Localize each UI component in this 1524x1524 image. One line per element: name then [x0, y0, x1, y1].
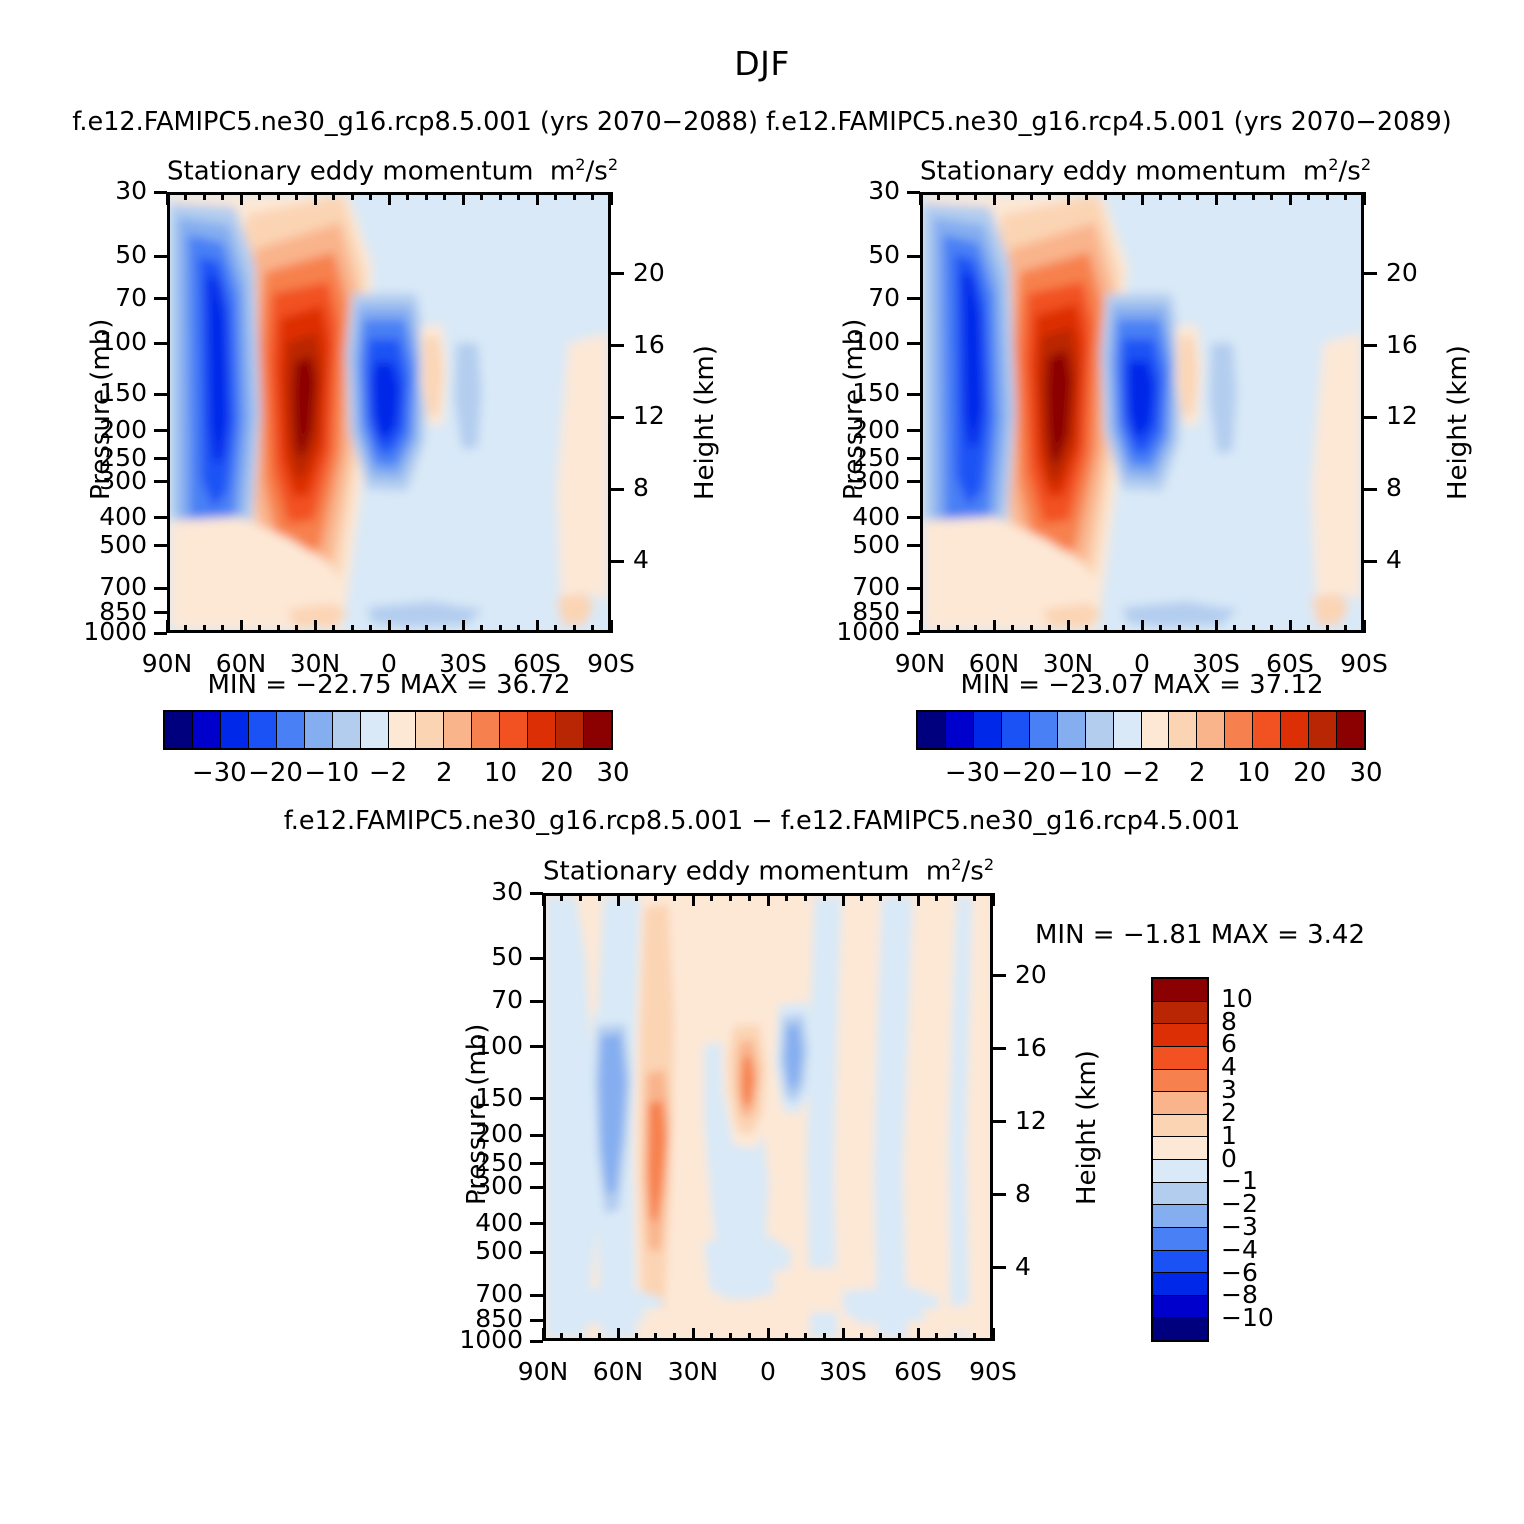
x-minor-tick-rcp45	[1344, 192, 1347, 200]
y-tick-rcp45	[907, 544, 920, 547]
colorbar-cell-rcp45	[974, 712, 1002, 748]
x-tick-rcp85	[536, 192, 539, 205]
x-tick-rcp85	[462, 192, 465, 205]
y-tick-rcp85	[154, 297, 167, 300]
x-tick-rcp85	[388, 192, 391, 205]
x-tick-difference	[842, 893, 845, 906]
y2-tick-label-difference: 16	[1015, 1033, 1047, 1062]
x-minor-tick-rcp45	[1344, 625, 1347, 633]
contour-field-rcp85	[170, 195, 608, 630]
x-minor-tick-difference	[579, 893, 582, 901]
colorbar-label-difference: −10	[1221, 1303, 1274, 1332]
figure-main-title: DJF	[0, 44, 1524, 83]
y-tick-rcp85	[154, 342, 167, 345]
x-tick-difference	[692, 1328, 695, 1341]
x-tick-difference	[767, 1328, 770, 1341]
x-minor-tick-difference	[598, 893, 601, 901]
minmax-rcp85: MIN = −22.75 MAX = 36.72	[167, 670, 611, 700]
y-tick-label-rcp45: 50	[785, 240, 900, 269]
contour-field-difference	[546, 896, 990, 1338]
colorbar-cell-rcp45	[1169, 712, 1197, 748]
x-tick-rcp85	[166, 192, 169, 205]
y-tick-rcp45	[907, 297, 920, 300]
colorbar-cell-difference	[1153, 1092, 1207, 1115]
y2-tick-label-rcp85: 8	[633, 473, 649, 502]
colorbar-cell-difference	[1153, 1070, 1207, 1093]
y2-tick-rcp45	[1364, 344, 1377, 347]
colorbar-label-rcp45: 30	[1311, 758, 1421, 788]
colorbar-cell-difference	[1153, 1137, 1207, 1160]
x-minor-tick-difference	[635, 1333, 638, 1341]
x-minor-tick-difference	[673, 1333, 676, 1341]
y-tick-rcp85	[154, 587, 167, 590]
y-tick-rcp45	[907, 429, 920, 432]
y-tick-label-rcp45: 1000	[785, 617, 900, 646]
colorbar-cell-rcp45	[1225, 712, 1253, 748]
y-axis-label-difference: Pressure (mb)	[462, 1024, 492, 1205]
x-minor-tick-rcp85	[332, 192, 335, 200]
x-minor-tick-rcp85	[406, 192, 409, 200]
panel-title-rcp85: Stationary eddy momentum m2/s2	[167, 155, 611, 187]
y-tick-difference	[530, 1045, 543, 1048]
x-minor-tick-difference	[748, 893, 751, 901]
y-tick-difference	[530, 1319, 543, 1322]
y-tick-difference	[530, 1186, 543, 1189]
x-tick-rcp85	[536, 620, 539, 633]
y-tick-label-rcp85: 30	[32, 176, 147, 205]
x-minor-tick-rcp85	[573, 192, 576, 200]
x-minor-tick-difference	[973, 1333, 976, 1341]
x-minor-tick-difference	[560, 1333, 563, 1341]
colorbar-cell-rcp85	[249, 712, 277, 748]
y2-tick-label-rcp85: 16	[633, 330, 665, 359]
x-tick-difference	[917, 893, 920, 906]
colorbar-cell-difference	[1153, 1228, 1207, 1251]
colorbar-cell-rcp45	[1058, 712, 1086, 748]
colorbar-cell-difference	[1153, 1318, 1207, 1340]
panel-title-text-rcp85: Stationary eddy momentum	[167, 157, 533, 187]
y-tick-label-rcp45: 500	[785, 530, 900, 559]
difference-case-line: f.e12.FAMIPC5.ne30_g16.rcp8.5.001 − f.e1…	[0, 806, 1524, 836]
y2-tick-rcp45	[1364, 272, 1377, 275]
colorbar-cell-rcp45	[1086, 712, 1114, 748]
y2-tick-rcp85	[611, 272, 624, 275]
x-tick-rcp45	[919, 192, 922, 205]
x-minor-tick-rcp45	[974, 192, 977, 200]
y-axis-label-rcp85: Pressure (mb)	[86, 319, 116, 500]
x-minor-tick-rcp85	[499, 625, 502, 633]
x-minor-tick-rcp45	[1196, 625, 1199, 633]
x-minor-tick-rcp85	[184, 625, 187, 633]
x-minor-tick-difference	[823, 1333, 826, 1341]
y2-tick-difference	[993, 1193, 1006, 1196]
colorbar-difference	[1151, 977, 1209, 1342]
colorbar-cell-difference	[1153, 1047, 1207, 1070]
x-tick-difference	[992, 893, 995, 906]
plot-frame-difference	[543, 893, 993, 1341]
x-tick-rcp45	[919, 620, 922, 633]
y2-axis-label-rcp85: Height (km)	[690, 345, 720, 500]
y-tick-label-difference: 1000	[408, 1325, 523, 1354]
plot-frame-rcp45	[920, 192, 1364, 633]
y2-tick-difference	[993, 1047, 1006, 1050]
colorbar-cell-difference	[1153, 1273, 1207, 1296]
x-minor-tick-difference	[935, 893, 938, 901]
x-tick-rcp45	[1067, 620, 1070, 633]
contour-field-rcp45	[923, 195, 1361, 630]
y-tick-rcp45	[907, 480, 920, 483]
y2-tick-label-difference: 4	[1015, 1252, 1031, 1281]
y-tick-rcp85	[154, 516, 167, 519]
x-minor-tick-rcp85	[258, 192, 261, 200]
y-tick-label-rcp45: 400	[785, 502, 900, 531]
y2-tick-rcp45	[1364, 416, 1377, 419]
y-tick-rcp85	[154, 255, 167, 258]
y2-tick-rcp45	[1364, 488, 1377, 491]
x-tick-difference	[842, 1328, 845, 1341]
panel-title-rcp45: Stationary eddy momentum m2/s2	[920, 155, 1364, 187]
colorbar-cell-rcp45	[1030, 712, 1058, 748]
x-tick-rcp85	[610, 192, 613, 205]
x-minor-tick-difference	[879, 893, 882, 901]
colorbar-cell-difference	[1153, 1251, 1207, 1274]
colorbar-cell-rcp45	[1002, 712, 1030, 748]
x-minor-tick-rcp85	[221, 192, 224, 200]
x-tick-rcp85	[610, 620, 613, 633]
x-minor-tick-rcp45	[1011, 625, 1014, 633]
y-tick-label-difference: 70	[408, 985, 523, 1014]
y2-tick-rcp85	[611, 488, 624, 491]
x-tick-difference	[542, 893, 545, 906]
y-tick-rcp45	[907, 611, 920, 614]
y2-tick-rcp85	[611, 344, 624, 347]
y-tick-rcp85	[154, 480, 167, 483]
colorbar-cell-rcp45	[1281, 712, 1309, 748]
x-minor-tick-difference	[823, 893, 826, 901]
x-minor-tick-rcp45	[1048, 625, 1051, 633]
y-tick-difference	[530, 1294, 543, 1297]
y2-tick-label-rcp45: 12	[1386, 401, 1418, 430]
x-minor-tick-difference	[860, 893, 863, 901]
x-minor-tick-rcp45	[937, 625, 940, 633]
x-minor-tick-difference	[729, 1333, 732, 1341]
x-minor-tick-rcp85	[554, 192, 557, 200]
colorbar-rcp45	[916, 710, 1366, 750]
x-minor-tick-difference	[710, 1333, 713, 1341]
x-minor-tick-difference	[710, 893, 713, 901]
y-tick-rcp85	[154, 457, 167, 460]
x-minor-tick-rcp45	[1159, 192, 1162, 200]
y-tick-rcp85	[154, 611, 167, 614]
plot-frame-rcp85	[167, 192, 611, 633]
x-minor-tick-rcp85	[221, 625, 224, 633]
y2-tick-rcp45	[1364, 560, 1377, 563]
x-minor-tick-rcp85	[591, 625, 594, 633]
x-minor-tick-rcp45	[1011, 192, 1014, 200]
x-minor-tick-difference	[785, 1333, 788, 1341]
x-minor-tick-difference	[560, 893, 563, 901]
x-tick-rcp85	[240, 192, 243, 205]
x-minor-tick-difference	[598, 1333, 601, 1341]
y2-tick-label-rcp85: 4	[633, 545, 649, 574]
colorbar-cell-rcp45	[1197, 712, 1225, 748]
x-minor-tick-difference	[748, 1333, 751, 1341]
y-tick-label-rcp85: 1000	[32, 617, 147, 646]
y-tick-rcp45	[907, 516, 920, 519]
y2-tick-difference	[993, 974, 1006, 977]
colorbar-label-rcp85: 30	[558, 758, 668, 788]
x-minor-tick-rcp85	[425, 192, 428, 200]
x-minor-tick-difference	[673, 893, 676, 901]
x-minor-tick-difference	[654, 893, 657, 901]
colorbar-cell-rcp45	[1114, 712, 1142, 748]
minmax-rcp45: MIN = −23.07 MAX = 37.12	[920, 670, 1364, 700]
x-tick-label-difference: 90S	[933, 1357, 1053, 1386]
colorbar-cell-rcp85	[305, 712, 333, 748]
x-minor-tick-rcp85	[351, 192, 354, 200]
colorbar-cell-rcp45	[918, 712, 946, 748]
x-tick-rcp85	[314, 192, 317, 205]
colorbar-cell-rcp45	[1142, 712, 1170, 748]
x-minor-tick-difference	[785, 893, 788, 901]
x-minor-tick-rcp45	[1270, 625, 1273, 633]
colorbar-cell-rcp85	[361, 712, 389, 748]
y-tick-rcp45	[907, 457, 920, 460]
x-minor-tick-difference	[898, 1333, 901, 1341]
y2-tick-label-rcp45: 8	[1386, 473, 1402, 502]
x-tick-rcp45	[1141, 620, 1144, 633]
x-tick-rcp45	[1289, 192, 1292, 205]
x-minor-tick-difference	[635, 893, 638, 901]
colorbar-cell-rcp85	[221, 712, 249, 748]
x-minor-tick-difference	[860, 1333, 863, 1341]
y2-tick-label-difference: 8	[1015, 1179, 1031, 1208]
colorbar-cell-difference	[1153, 1205, 1207, 1228]
colorbar-cell-rcp85	[500, 712, 528, 748]
x-minor-tick-difference	[898, 893, 901, 901]
x-minor-tick-difference	[729, 893, 732, 901]
x-minor-tick-difference	[954, 1333, 957, 1341]
figure-case-line: f.e12.FAMIPC5.ne30_g16.rcp8.5.001 (yrs 2…	[0, 107, 1524, 137]
x-minor-tick-difference	[579, 1333, 582, 1341]
x-minor-tick-difference	[954, 893, 957, 901]
x-minor-tick-rcp85	[591, 192, 594, 200]
colorbar-cell-rcp85	[528, 712, 556, 748]
x-tick-rcp45	[1289, 620, 1292, 633]
x-minor-tick-rcp85	[351, 625, 354, 633]
x-minor-tick-rcp45	[1326, 625, 1329, 633]
x-tick-rcp45	[1363, 620, 1366, 633]
x-minor-tick-rcp45	[1233, 625, 1236, 633]
colorbar-cell-rcp85	[584, 712, 611, 748]
x-minor-tick-rcp45	[1104, 192, 1107, 200]
x-tick-difference	[767, 893, 770, 906]
x-minor-tick-rcp45	[1307, 625, 1310, 633]
x-tick-difference	[992, 1328, 995, 1341]
x-minor-tick-difference	[804, 1333, 807, 1341]
y-tick-difference	[530, 1000, 543, 1003]
x-minor-tick-rcp85	[295, 625, 298, 633]
colorbar-cell-difference	[1153, 979, 1207, 1002]
x-minor-tick-rcp85	[369, 625, 372, 633]
x-minor-tick-rcp85	[277, 625, 280, 633]
colorbar-cell-rcp85	[193, 712, 221, 748]
y-tick-rcp45	[907, 255, 920, 258]
x-minor-tick-rcp45	[1122, 625, 1125, 633]
x-minor-tick-difference	[935, 1333, 938, 1341]
y-tick-difference	[530, 1222, 543, 1225]
y2-tick-rcp85	[611, 560, 624, 563]
y2-tick-label-rcp85: 20	[633, 258, 665, 287]
x-minor-tick-rcp45	[1085, 625, 1088, 633]
y-tick-label-rcp85: 500	[32, 530, 147, 559]
x-tick-rcp45	[1363, 192, 1366, 205]
y-tick-label-rcp85: 400	[32, 502, 147, 531]
y2-tick-label-rcp45: 20	[1386, 258, 1418, 287]
colorbar-cell-rcp85	[389, 712, 417, 748]
x-minor-tick-rcp45	[1178, 625, 1181, 633]
y2-tick-label-difference: 12	[1015, 1106, 1047, 1135]
x-minor-tick-rcp45	[956, 625, 959, 633]
y-tick-rcp85	[154, 429, 167, 432]
x-tick-rcp85	[314, 620, 317, 633]
x-minor-tick-rcp85	[443, 625, 446, 633]
colorbar-cell-rcp45	[1337, 712, 1364, 748]
x-minor-tick-rcp85	[443, 192, 446, 200]
x-tick-rcp45	[993, 620, 996, 633]
colorbar-cell-rcp45	[1253, 712, 1281, 748]
x-minor-tick-rcp85	[332, 625, 335, 633]
y2-tick-difference	[993, 1120, 1006, 1123]
x-minor-tick-rcp45	[1030, 192, 1033, 200]
y-tick-label-difference: 30	[408, 877, 523, 906]
x-tick-rcp85	[166, 620, 169, 633]
colorbar-cell-difference	[1153, 1296, 1207, 1319]
y2-tick-label-difference: 20	[1015, 960, 1047, 989]
x-tick-rcp45	[1141, 192, 1144, 205]
colorbar-cell-rcp85	[277, 712, 305, 748]
x-tick-rcp45	[1067, 192, 1070, 205]
x-minor-tick-rcp85	[480, 625, 483, 633]
colorbar-rcp85	[163, 710, 613, 750]
x-tick-difference	[542, 1328, 545, 1341]
x-minor-tick-rcp85	[517, 625, 520, 633]
x-minor-tick-rcp45	[1178, 192, 1181, 200]
x-minor-tick-rcp45	[1252, 192, 1255, 200]
y-tick-difference	[530, 1251, 543, 1254]
y2-axis-label-rcp45: Height (km)	[1443, 345, 1473, 500]
y2-tick-difference	[993, 1266, 1006, 1269]
x-minor-tick-rcp45	[1030, 625, 1033, 633]
x-minor-tick-rcp45	[1252, 625, 1255, 633]
colorbar-cell-rcp85	[165, 712, 193, 748]
x-tick-rcp85	[462, 620, 465, 633]
x-tick-difference	[917, 1328, 920, 1341]
y-tick-label-difference: 50	[408, 942, 523, 971]
x-tick-rcp45	[1215, 192, 1218, 205]
x-minor-tick-rcp85	[258, 625, 261, 633]
colorbar-cell-rcp85	[472, 712, 500, 748]
minmax-difference: MIN = −1.81 MAX = 3.42	[1000, 920, 1400, 950]
x-minor-tick-rcp85	[203, 192, 206, 200]
x-minor-tick-difference	[654, 1333, 657, 1341]
x-minor-tick-rcp85	[517, 192, 520, 200]
x-minor-tick-rcp45	[1048, 192, 1051, 200]
x-minor-tick-rcp85	[425, 625, 428, 633]
colorbar-cell-rcp85	[416, 712, 444, 748]
y-tick-rcp45	[907, 342, 920, 345]
y-tick-difference	[530, 957, 543, 960]
colorbar-cell-rcp45	[946, 712, 974, 748]
x-tick-rcp85	[388, 620, 391, 633]
y2-tick-label-rcp45: 16	[1386, 330, 1418, 359]
x-minor-tick-rcp45	[1122, 192, 1125, 200]
colorbar-cell-difference	[1153, 1115, 1207, 1138]
x-minor-tick-rcp45	[1270, 192, 1273, 200]
colorbar-cell-rcp85	[556, 712, 584, 748]
colorbar-cell-rcp85	[444, 712, 472, 748]
x-minor-tick-rcp85	[554, 625, 557, 633]
y-tick-difference	[530, 1134, 543, 1137]
y-tick-difference	[530, 1162, 543, 1165]
y-tick-label-rcp45: 30	[785, 176, 900, 205]
x-minor-tick-rcp45	[937, 192, 940, 200]
panel-title-difference: Stationary eddy momentum m2/s2	[543, 855, 993, 887]
x-tick-rcp45	[993, 192, 996, 205]
y-tick-label-difference: 500	[408, 1236, 523, 1265]
x-minor-tick-rcp85	[406, 625, 409, 633]
x-minor-tick-rcp45	[1233, 192, 1236, 200]
y2-tick-label-rcp85: 12	[633, 401, 665, 430]
colorbar-cell-difference	[1153, 1002, 1207, 1025]
x-tick-difference	[617, 893, 620, 906]
x-minor-tick-rcp45	[1196, 192, 1199, 200]
colorbar-cell-rcp85	[333, 712, 361, 748]
y2-axis-label-difference: Height (km)	[1072, 1050, 1102, 1205]
y-axis-label-rcp45: Pressure (mb)	[839, 319, 869, 500]
x-minor-tick-rcp85	[203, 625, 206, 633]
y-tick-rcp85	[154, 544, 167, 547]
x-tick-rcp45	[1215, 620, 1218, 633]
x-tick-difference	[692, 893, 695, 906]
panel-title-text-difference: Stationary eddy momentum	[543, 857, 909, 887]
colorbar-cell-difference	[1153, 1183, 1207, 1206]
x-minor-tick-rcp85	[480, 192, 483, 200]
y2-tick-label-rcp45: 4	[1386, 545, 1402, 574]
y-tick-label-rcp45: 70	[785, 283, 900, 312]
x-minor-tick-rcp45	[956, 192, 959, 200]
y-tick-label-rcp85: 50	[32, 240, 147, 269]
x-minor-tick-rcp85	[295, 192, 298, 200]
x-minor-tick-rcp85	[277, 192, 280, 200]
y-tick-label-rcp85: 70	[32, 283, 147, 312]
colorbar-cell-rcp45	[1309, 712, 1337, 748]
y-tick-difference	[530, 1097, 543, 1100]
x-minor-tick-difference	[804, 893, 807, 901]
colorbar-cell-difference	[1153, 1160, 1207, 1183]
panel-title-text-rcp45: Stationary eddy momentum	[920, 157, 1286, 187]
x-minor-tick-rcp45	[1326, 192, 1329, 200]
x-minor-tick-rcp85	[369, 192, 372, 200]
y-tick-rcp45	[907, 393, 920, 396]
x-minor-tick-rcp85	[499, 192, 502, 200]
x-minor-tick-rcp45	[1159, 625, 1162, 633]
y2-tick-rcp85	[611, 416, 624, 419]
x-tick-rcp85	[240, 620, 243, 633]
x-minor-tick-difference	[973, 893, 976, 901]
y-tick-rcp45	[907, 587, 920, 590]
y-tick-label-difference: 400	[408, 1208, 523, 1237]
